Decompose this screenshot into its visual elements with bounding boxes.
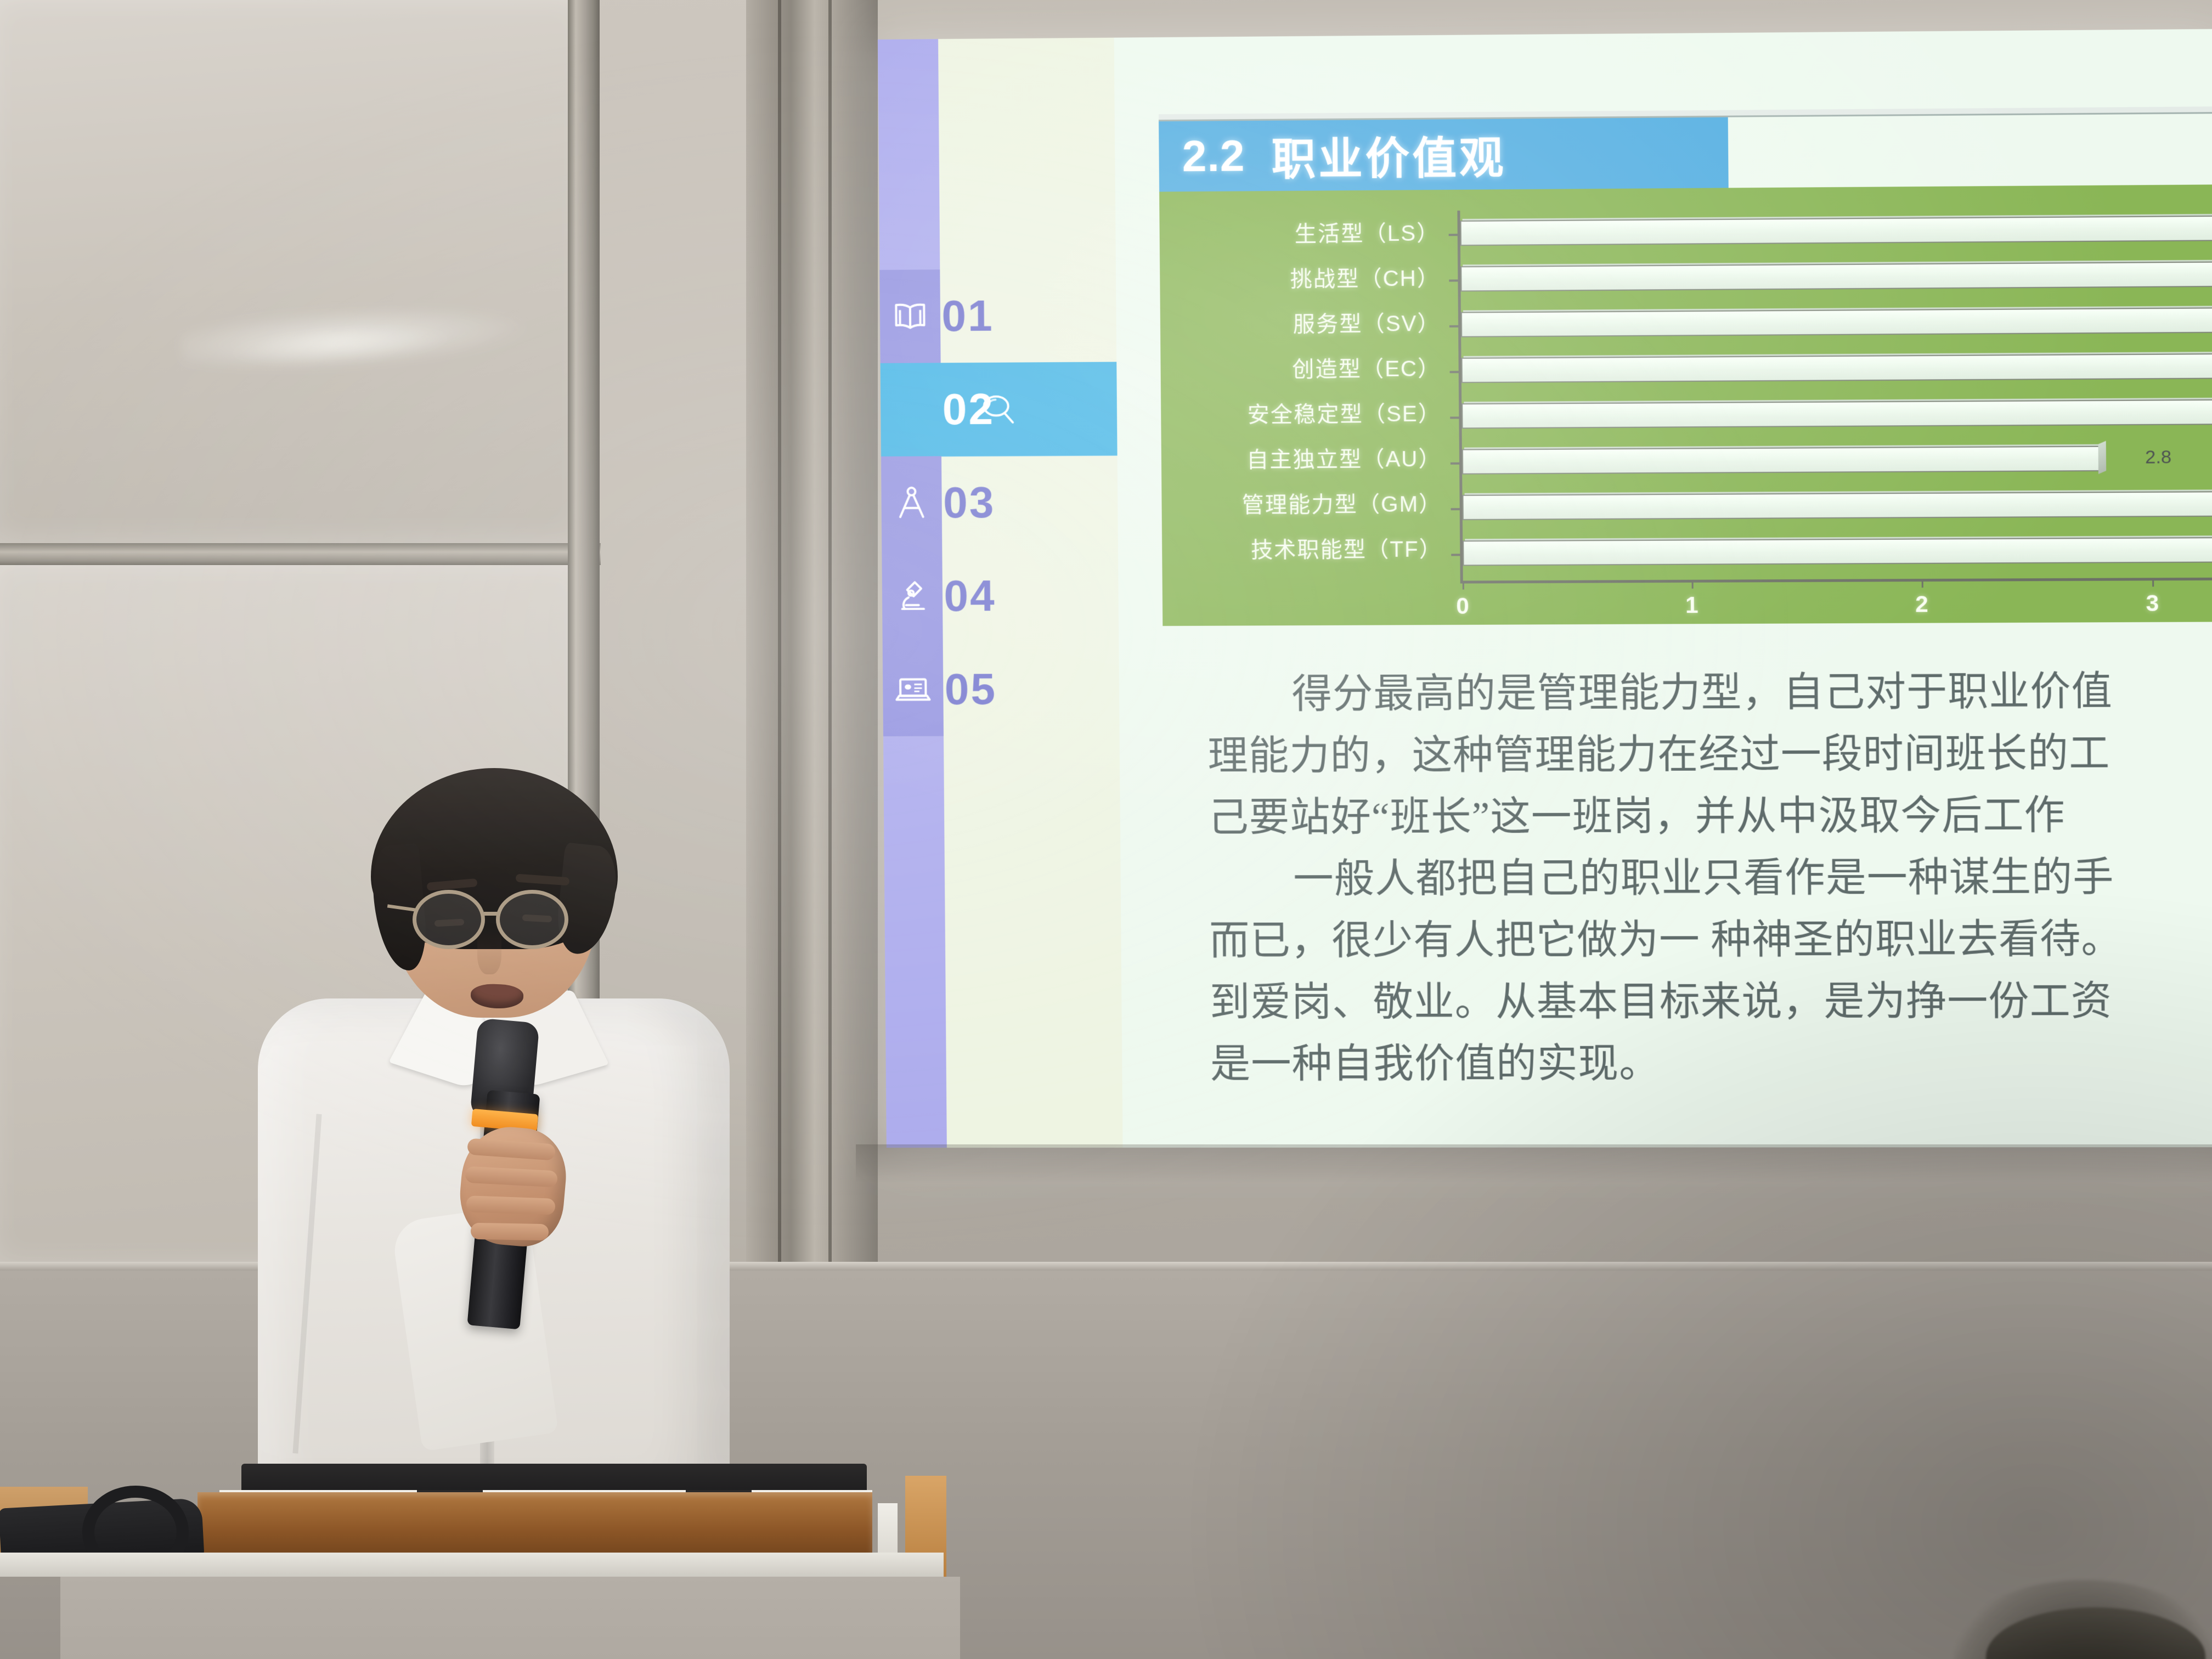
x-axis-label: 1 xyxy=(1685,592,1699,618)
finger xyxy=(471,1223,549,1240)
bar-EC xyxy=(1462,352,2212,383)
body-line: 是一种自我价值的实现。 xyxy=(1210,1031,2212,1095)
x-axis-tick xyxy=(1922,579,1923,588)
chart-plot-area: 2.8 0 1 2 xyxy=(1457,191,2212,625)
slide-content-area: 2.2 职业价值观 生活型（LS） 挑战型（CH） 服务型（SV） 创造型（EC… xyxy=(1114,29,2212,1148)
category-label: 技术职能型（TF） xyxy=(1162,524,1455,571)
bar-row xyxy=(1463,527,2212,579)
category-label: 挑战型（CH） xyxy=(1160,253,1453,301)
category-label: 安全稳定型（SE） xyxy=(1161,389,1454,436)
bar-row xyxy=(1461,296,2212,350)
y-axis-tick xyxy=(1449,325,1459,328)
category-label: 服务型（SV） xyxy=(1160,299,1453,346)
pillar-seam-left xyxy=(778,0,781,1393)
chart-category-labels: 生活型（LS） 挑战型（CH） 服务型（SV） 创造型（EC） 安全稳定型（SE… xyxy=(1159,208,1454,571)
lectern-front-panel xyxy=(60,1577,960,1659)
y-axis-tick xyxy=(1449,234,1459,236)
chart-bars: 2.8 xyxy=(1460,204,2212,578)
sidebar-number-01[interactable]: 01 xyxy=(879,269,1056,363)
bar-SV xyxy=(1461,306,2212,337)
x-axis-label: 2 xyxy=(1915,591,1928,617)
glasses-bridge xyxy=(484,912,498,916)
y-axis-tick xyxy=(1449,279,1459,281)
whiteboard-horizontal-rail xyxy=(0,543,601,565)
y-axis-tick xyxy=(1451,462,1460,465)
bar-row xyxy=(1461,342,2212,396)
bar-TF xyxy=(1463,537,2212,566)
bar-LS xyxy=(1460,214,2212,246)
bar-row xyxy=(1460,204,2212,258)
sidebar-number-04[interactable]: 04 xyxy=(882,549,1058,643)
bar-row: 2.8 xyxy=(1462,435,2212,487)
lecture-photo-scene: 01 02 03 04 05 2.2 职业价值观 生活型（LS） 挑战型（CH）… xyxy=(0,0,2212,1659)
x-axis-label: 3 xyxy=(2146,590,2159,617)
finger xyxy=(466,1195,556,1215)
category-label: 生活型（LS） xyxy=(1159,208,1452,256)
bar-value-label: 2.8 xyxy=(2145,447,2171,469)
bar-row xyxy=(1460,250,2212,304)
bar-AU xyxy=(1462,446,2101,475)
page-title: 职业价值观 xyxy=(1271,122,1506,188)
body-line: 得分最高的是管理能力型，自己对于职业价值 xyxy=(1207,658,2212,725)
body-line: 到爱岗、敬业。从基本目标来说，是为挣一份工资 xyxy=(1210,969,2212,1033)
bar-GM xyxy=(1463,490,2212,520)
lens-right xyxy=(496,890,568,949)
whiteboard-upper-panel xyxy=(0,0,587,543)
body-line: 一般人都把自己的职业只看作是一种谋生的手 xyxy=(1209,845,2212,910)
projection-bottom-shadow xyxy=(856,1144,2212,1183)
sidebar-number-02[interactable]: 02 xyxy=(881,362,1057,456)
x-axis-tick xyxy=(1692,580,1694,589)
wall-pillar xyxy=(746,0,878,1399)
lectern xyxy=(0,1443,960,1659)
nose xyxy=(477,927,501,974)
y-axis-tick xyxy=(1450,371,1460,373)
sidebar-number-03[interactable]: 03 xyxy=(881,455,1058,550)
sidebar-number-05[interactable]: 05 xyxy=(883,642,1059,736)
body-line: 而已，很少有人把它做为一 种神圣的职业去看待。 xyxy=(1209,907,2212,972)
slide-card: 2.2 职业价值观 生活型（LS） 挑战型（CH） 服务型（SV） 创造型（EC… xyxy=(1159,104,2212,626)
slide-title-bar: 2.2 职业价值观 xyxy=(1159,117,1729,192)
lens-left xyxy=(413,890,485,949)
y-axis-tick xyxy=(1450,416,1460,419)
bar-CH xyxy=(1460,261,2212,292)
y-axis-tick xyxy=(1451,554,1461,556)
body-line: 理能力的，这种管理能力在经过一段时间班长的工 xyxy=(1207,720,2212,787)
bar-SE xyxy=(1462,398,2212,429)
presenter-person xyxy=(241,763,757,1487)
x-axis-label: 0 xyxy=(1456,593,1469,619)
category-label: 创造型（EC） xyxy=(1160,344,1453,391)
x-axis-tick xyxy=(2152,578,2154,586)
category-label: 管理能力型（GM） xyxy=(1161,479,1454,526)
category-label: 自主独立型（AU） xyxy=(1161,435,1454,481)
slide-body-text: 得分最高的是管理能力型，自己对于职业价值 理能力的，这种管理能力在经过一段时间班… xyxy=(1207,658,2212,1094)
pillar-seam-right xyxy=(828,0,832,1393)
y-axis-tick xyxy=(1451,508,1461,510)
lectern-ledge xyxy=(0,1553,944,1577)
x-axis-tick xyxy=(1463,581,1464,590)
bar-row xyxy=(1462,388,2212,441)
section-number: 2.2 xyxy=(1182,131,1245,182)
projected-slide: 01 02 03 04 05 2.2 职业价值观 生活型（LS） 挑战型（CH）… xyxy=(878,29,2212,1148)
bar-row xyxy=(1462,481,2212,533)
bar-chart: 生活型（LS） 挑战型（CH） 服务型（SV） 创造型（EC） 安全稳定型（SE… xyxy=(1159,183,2212,626)
bar-end-cap xyxy=(2098,441,2107,474)
body-line: 己要站好“班长”这一班岗，并从中汲取今后工作 xyxy=(1208,782,2212,849)
